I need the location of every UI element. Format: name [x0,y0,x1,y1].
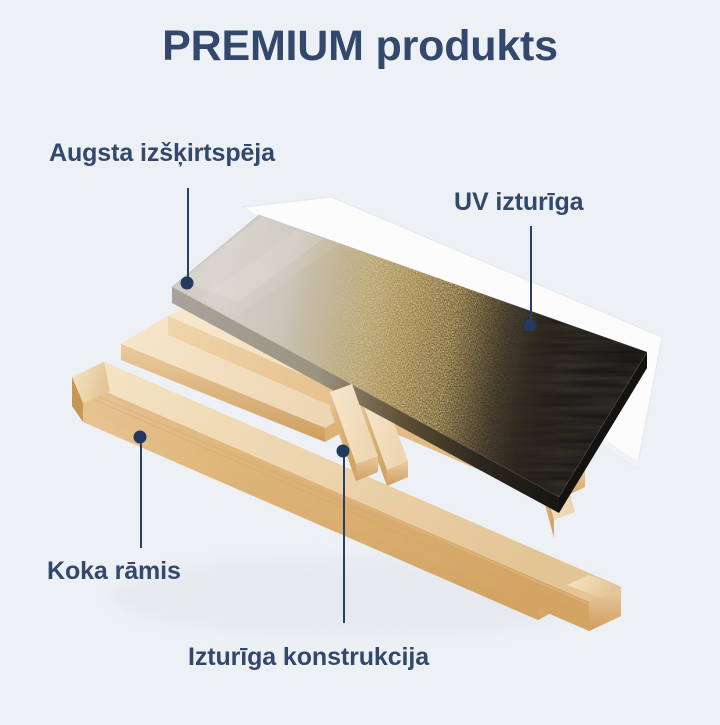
page-title: PREMIUM produkts [0,22,720,71]
leader-line-uv [530,226,532,326]
callout-label-frame: Koka rāmis [47,557,181,586]
callout-label-construction: Izturīga konstrukcija [188,643,429,672]
product-illustration [0,0,720,720]
leader-line-construction [343,451,345,623]
callout-dot-frame [134,431,147,444]
exploded-canvas-print-graphic [0,0,720,720]
leader-line-resolution [187,188,189,284]
leader-line-frame [140,437,142,548]
callout-dot-uv [524,319,537,332]
callout-dot-resolution [181,277,194,290]
callout-label-uv: UV izturīga [454,188,583,217]
callout-dot-construction [337,445,350,458]
poster-stage: PREMIUM produkts Augsta izšķirtspēja UV … [0,0,720,720]
callout-label-resolution: Augsta izšķirtspēja [49,139,275,168]
